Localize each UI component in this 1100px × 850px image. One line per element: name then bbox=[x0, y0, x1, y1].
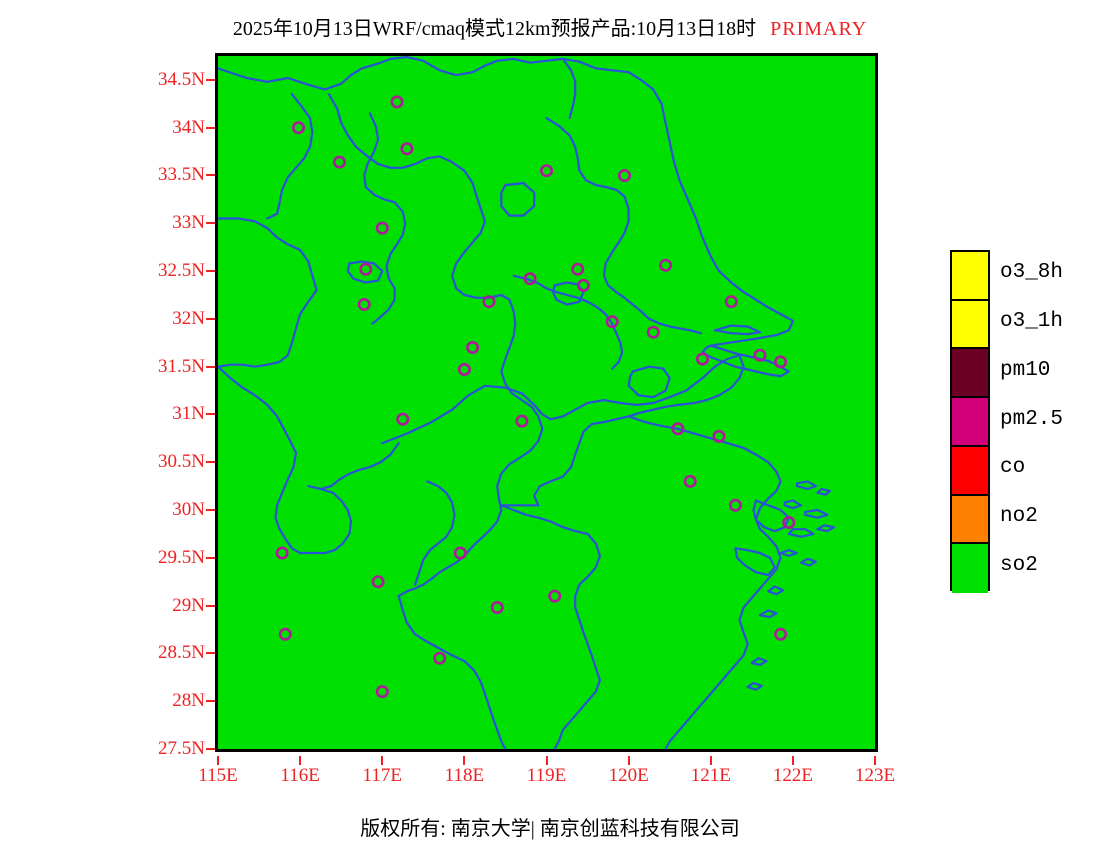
legend-swatch-pm2-5[interactable] bbox=[952, 398, 988, 447]
station-marker[interactable] bbox=[619, 170, 629, 180]
station-marker[interactable] bbox=[293, 123, 303, 133]
station-marker[interactable] bbox=[660, 260, 670, 270]
y-axis-tick-label: 34N bbox=[127, 117, 205, 139]
boundary-line bbox=[735, 548, 774, 575]
boundary-line bbox=[781, 550, 797, 556]
legend-swatch-o3-8h[interactable] bbox=[952, 252, 988, 301]
title-main-text: 2025年10月13日WRF/cmaq模式12km预报产品:10月13日18时 bbox=[233, 18, 756, 40]
boundary-line bbox=[364, 113, 405, 323]
y-axis-tick-label: 28.5N bbox=[127, 642, 205, 664]
y-axis-tick-mark bbox=[206, 127, 215, 129]
boundary-line bbox=[748, 683, 762, 690]
boundary-line bbox=[797, 481, 816, 489]
legend-label-pm2-5: pm2.5 bbox=[1000, 408, 1063, 431]
y-axis-tick-label: 33.5N bbox=[127, 164, 205, 186]
y-axis-tick-mark bbox=[206, 79, 215, 81]
y-axis-tick-label: 29N bbox=[127, 595, 205, 617]
y-axis-tick-mark bbox=[206, 366, 215, 368]
legend-label-co: co bbox=[1000, 456, 1025, 479]
station-marker[interactable] bbox=[277, 548, 287, 558]
x-axis-tick-label: 116E bbox=[265, 765, 335, 787]
x-axis-tick-mark bbox=[463, 756, 465, 765]
legend-label-so2: so2 bbox=[1000, 554, 1038, 577]
boundary-line bbox=[818, 525, 834, 531]
boundary-line bbox=[415, 481, 454, 584]
boundary-line bbox=[805, 510, 827, 518]
station-marker[interactable] bbox=[726, 297, 736, 307]
station-marker[interactable] bbox=[280, 629, 290, 639]
chart-title: 2025年10月13日WRF/cmaq模式12km预报产品:10月13日18时P… bbox=[0, 12, 1100, 41]
legend-label-pm10: pm10 bbox=[1000, 359, 1050, 382]
boundary-line bbox=[218, 57, 662, 104]
y-axis-tick-mark bbox=[206, 652, 215, 654]
station-marker[interactable] bbox=[730, 500, 740, 510]
boundary-line bbox=[629, 416, 781, 749]
boundary-line bbox=[785, 501, 801, 509]
station-marker[interactable] bbox=[685, 476, 695, 486]
x-axis-tick-mark bbox=[792, 756, 794, 765]
station-marker[interactable] bbox=[435, 653, 445, 663]
x-axis-tick-mark bbox=[710, 756, 712, 765]
y-axis-tick-label: 32N bbox=[127, 308, 205, 330]
y-axis-tick-label: 29.5N bbox=[127, 547, 205, 569]
legend-label-no2: no2 bbox=[1000, 505, 1038, 528]
station-marker[interactable] bbox=[377, 223, 387, 233]
x-axis-tick-mark bbox=[546, 756, 548, 765]
station-marker[interactable] bbox=[697, 354, 707, 364]
y-axis-tick-mark bbox=[206, 700, 215, 702]
boundary-line bbox=[818, 489, 830, 495]
y-axis-tick-label: 33N bbox=[127, 212, 205, 234]
station-marker[interactable] bbox=[377, 686, 387, 696]
x-axis-tick-label: 122E bbox=[758, 765, 828, 787]
station-marker[interactable] bbox=[392, 97, 402, 107]
legend-swatch-o3-1h[interactable] bbox=[952, 301, 988, 350]
boundary-line bbox=[789, 529, 814, 537]
boundary-line bbox=[715, 326, 760, 335]
station-marker[interactable] bbox=[775, 629, 785, 639]
boundary-line bbox=[218, 367, 300, 553]
boundary-line bbox=[267, 94, 312, 218]
x-axis-tick-mark bbox=[299, 756, 301, 765]
copyright-footer: 版权所有: 南京大学| 南京创蓝科技有限公司 bbox=[0, 812, 1100, 841]
y-axis-tick-label: 31N bbox=[127, 403, 205, 425]
y-axis-tick-mark bbox=[206, 557, 215, 559]
station-marker[interactable] bbox=[578, 280, 588, 290]
y-axis-tick-mark bbox=[206, 318, 215, 320]
x-axis-tick-mark bbox=[381, 756, 383, 765]
boundary-line bbox=[501, 183, 534, 216]
station-marker[interactable] bbox=[402, 144, 412, 154]
boundary-line bbox=[501, 505, 600, 749]
y-axis-tick-mark bbox=[206, 509, 215, 511]
title-primary-label: PRIMARY bbox=[770, 18, 867, 40]
station-marker[interactable] bbox=[455, 548, 465, 558]
boundary-line bbox=[547, 118, 701, 333]
map-geometry bbox=[218, 56, 875, 749]
x-axis-tick-label: 118E bbox=[429, 765, 499, 787]
legend-swatch-no2[interactable] bbox=[952, 496, 988, 545]
station-marker[interactable] bbox=[492, 602, 502, 612]
boundary-line bbox=[501, 355, 743, 505]
y-axis-tick-label: 31.5N bbox=[127, 356, 205, 378]
legend-label-o3-8h: o3_8h bbox=[1000, 261, 1063, 284]
x-axis-tick-label: 117E bbox=[347, 765, 417, 787]
x-axis-tick-label: 115E bbox=[183, 765, 253, 787]
y-axis-tick-label: 32.5N bbox=[127, 260, 205, 282]
legend-label-o3-1h: o3_1h bbox=[1000, 310, 1063, 333]
station-marker[interactable] bbox=[573, 264, 583, 274]
boundary-line bbox=[399, 596, 506, 749]
boundary-line bbox=[662, 104, 793, 346]
pollutant-legend bbox=[950, 250, 990, 591]
legend-swatch-pm10[interactable] bbox=[952, 349, 988, 398]
boundary-line bbox=[801, 559, 816, 566]
x-axis-tick-label: 121E bbox=[676, 765, 746, 787]
y-axis-tick-mark bbox=[206, 413, 215, 415]
boundary-line bbox=[382, 355, 739, 443]
station-marker[interactable] bbox=[467, 342, 477, 352]
y-axis-tick-mark bbox=[206, 270, 215, 272]
y-axis-tick-label: 28N bbox=[127, 690, 205, 712]
boundary-line bbox=[629, 367, 670, 398]
y-axis-tick-mark bbox=[206, 222, 215, 224]
station-marker[interactable] bbox=[373, 577, 383, 587]
x-axis-tick-label: 120E bbox=[594, 765, 664, 787]
legend-swatch-so2[interactable] bbox=[952, 544, 988, 593]
y-axis-tick-mark bbox=[206, 461, 215, 463]
station-marker[interactable] bbox=[550, 591, 560, 601]
boundary-line bbox=[218, 219, 317, 367]
y-axis-tick-label: 30N bbox=[127, 499, 205, 521]
x-axis-tick-mark bbox=[874, 756, 876, 765]
y-axis-tick-mark bbox=[206, 174, 215, 176]
station-marker[interactable] bbox=[648, 327, 658, 337]
station-marker[interactable] bbox=[398, 414, 408, 424]
x-axis-tick-label: 123E bbox=[840, 765, 910, 787]
station-marker[interactable] bbox=[359, 299, 369, 309]
boundary-line bbox=[760, 610, 776, 617]
boundary-line bbox=[321, 443, 399, 489]
y-axis-tick-mark bbox=[206, 748, 215, 750]
x-axis-tick-mark bbox=[628, 756, 630, 765]
map-plot-area[interactable] bbox=[215, 53, 878, 752]
x-axis-tick-mark bbox=[217, 756, 219, 765]
y-axis-tick-label: 27.5N bbox=[127, 738, 205, 760]
x-axis-tick-label: 119E bbox=[512, 765, 582, 787]
y-axis-tick-label: 30.5N bbox=[127, 451, 205, 473]
station-marker[interactable] bbox=[541, 166, 551, 176]
station-marker[interactable] bbox=[517, 416, 527, 426]
boundary-line bbox=[752, 658, 767, 665]
legend-swatch-co[interactable] bbox=[952, 447, 988, 496]
boundary-line bbox=[768, 587, 783, 595]
boundary-line bbox=[563, 59, 575, 118]
y-axis-tick-mark bbox=[206, 605, 215, 607]
boundary-line bbox=[300, 486, 351, 553]
station-marker[interactable] bbox=[334, 157, 344, 167]
y-axis-tick-label: 34.5N bbox=[127, 69, 205, 91]
boundary-line bbox=[329, 94, 538, 416]
station-marker[interactable] bbox=[361, 264, 371, 274]
station-marker[interactable] bbox=[459, 364, 469, 374]
